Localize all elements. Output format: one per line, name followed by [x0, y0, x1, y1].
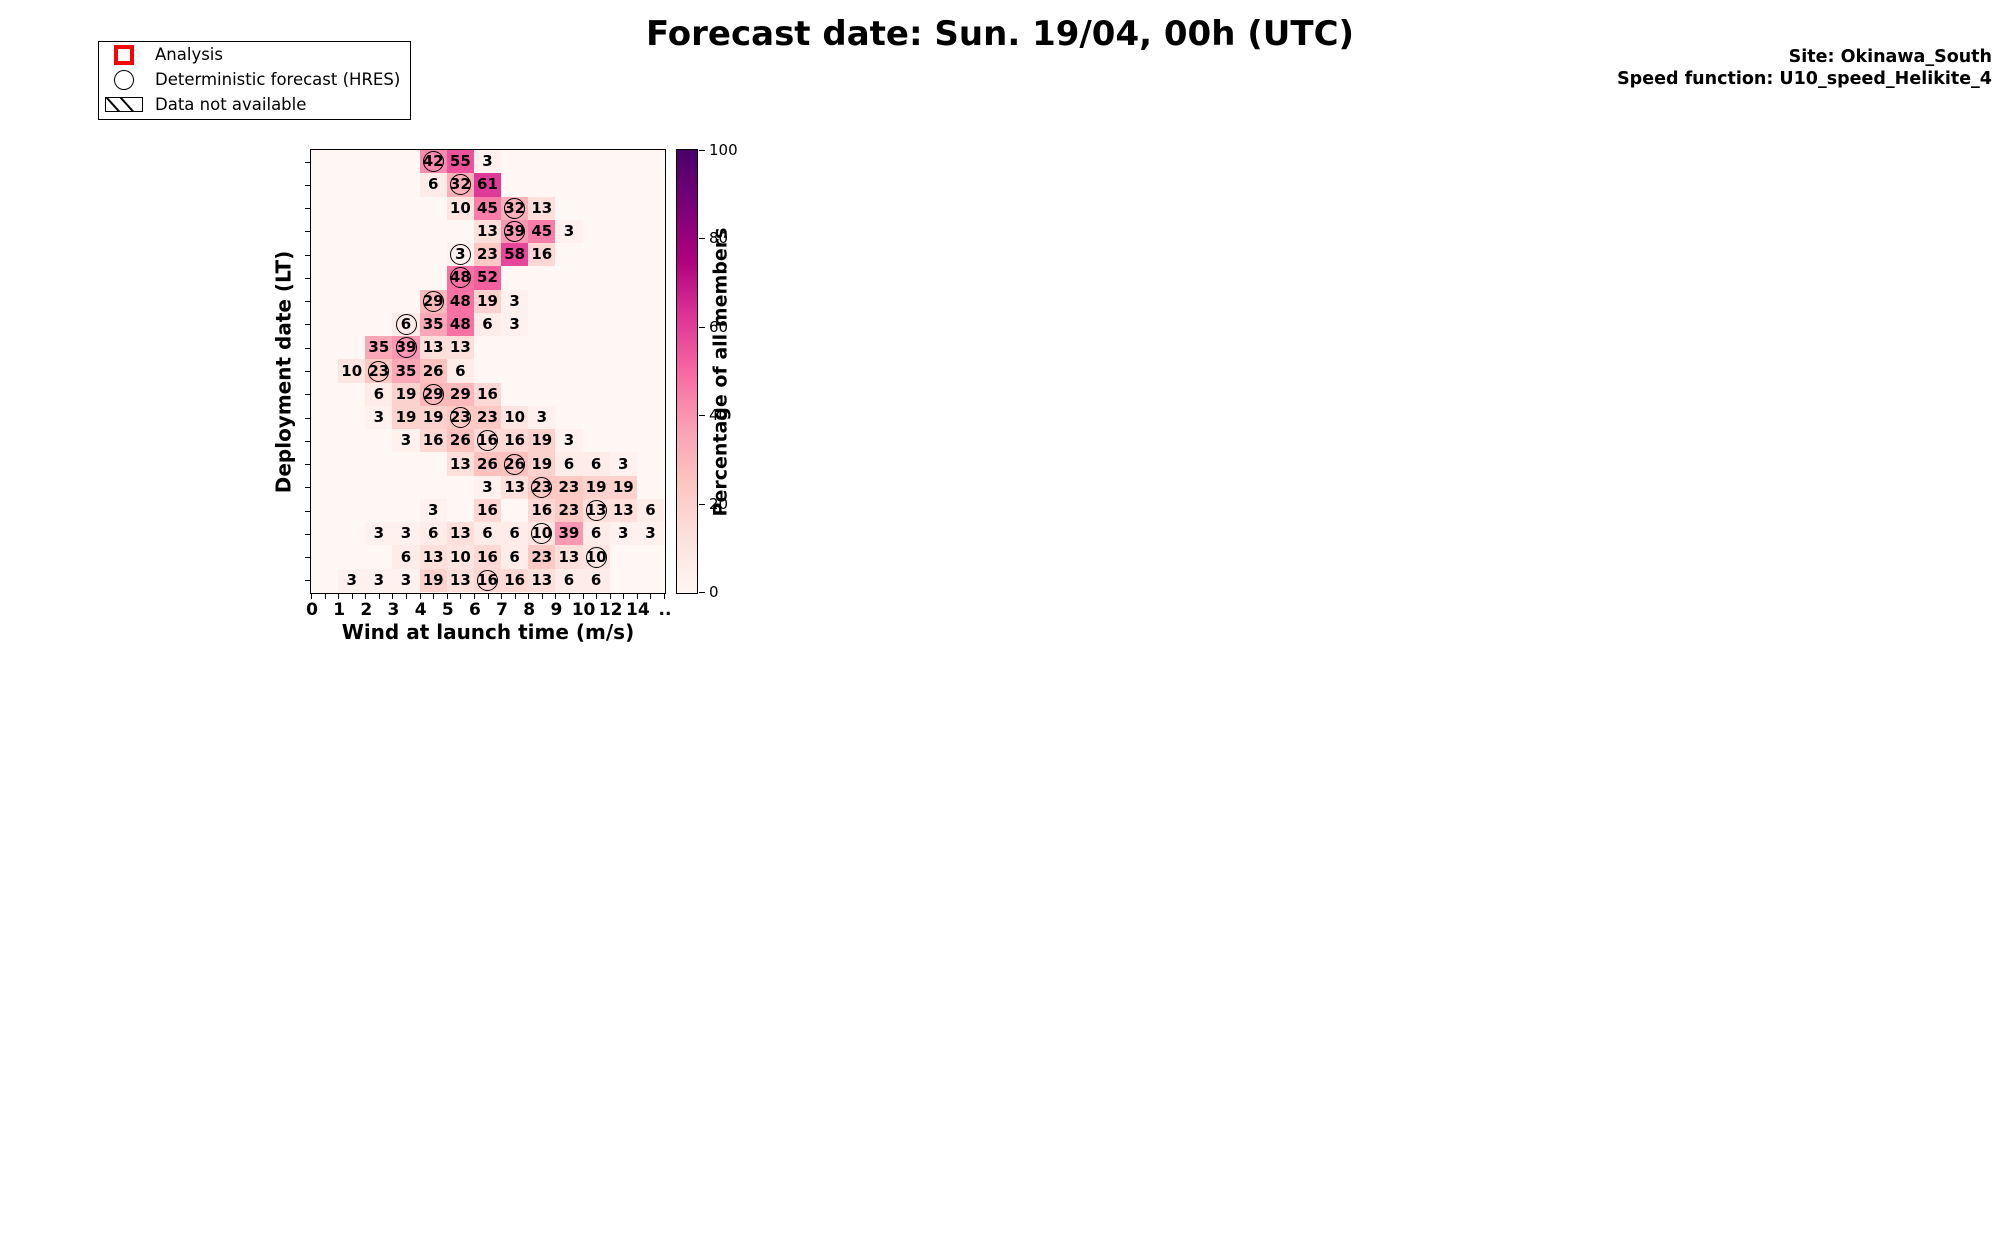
- heatmap-cell-value: 19: [610, 480, 637, 495]
- x-axis-tick: [365, 593, 366, 599]
- heatmap-cell-value: 6: [583, 526, 610, 541]
- heatmap-cell-value: 52: [474, 270, 501, 285]
- x-axis-tick-label: 8: [523, 600, 535, 620]
- heatmap-cell-value: 6: [583, 573, 610, 588]
- y-axis-tick: [305, 394, 311, 395]
- hres-marker-icon: [504, 198, 525, 219]
- heatmap-cell-value: 13: [501, 480, 528, 495]
- heatmap-cell-value: 13: [447, 526, 474, 541]
- heatmap-cell-value: 10: [447, 201, 474, 216]
- heatmap-cell-value: 26: [447, 433, 474, 448]
- heatmap-cell-value: 58: [501, 247, 528, 262]
- site-name-line: Site: Okinawa_South: [1617, 47, 1992, 69]
- hres-marker-icon: [586, 500, 607, 521]
- hatched-box-icon: [105, 94, 143, 115]
- heatmap-cell-value: 3: [528, 410, 555, 425]
- x-axis-tick-label: 9: [550, 600, 562, 620]
- x-axis-tick: [325, 593, 326, 599]
- heatmap-cell-value: 35: [365, 340, 392, 355]
- hres-marker-icon: [504, 221, 525, 242]
- x-axis-tick: [596, 593, 597, 599]
- heatmap-cell-value: 3: [365, 410, 392, 425]
- legend-item-no-data: Data not available: [99, 92, 410, 117]
- legend-item-hres: Deterministic forecast (HRES): [99, 67, 410, 92]
- y-axis-tick: [305, 557, 311, 558]
- x-axis-tick: [338, 593, 339, 599]
- x-axis-tick: [664, 593, 665, 599]
- x-axis-tick: [447, 593, 448, 599]
- legend-label-analysis: Analysis: [155, 45, 223, 64]
- y-axis-tick: [305, 301, 311, 302]
- heatmap-cell-value: 3: [392, 433, 419, 448]
- heatmap-cell-value: 6: [474, 317, 501, 332]
- hres-marker-icon: [396, 314, 417, 335]
- x-axis-tick: [623, 593, 624, 599]
- y-axis-tick: [305, 278, 311, 279]
- heatmap-cell-value: 13: [528, 573, 555, 588]
- x-axis-tick: [379, 593, 380, 599]
- heatmap-cell-value: 13: [610, 503, 637, 518]
- colorbar-tick: [699, 592, 705, 593]
- heatmap-cell-value: 23: [528, 550, 555, 565]
- y-axis-tick: [305, 348, 311, 349]
- heatmap-cell-value: 3: [365, 573, 392, 588]
- heatmap-cell-value: 19: [528, 457, 555, 472]
- x-axis-tick: [488, 593, 489, 599]
- heatmap-cell-value: 3: [555, 224, 582, 239]
- hres-marker-icon: [368, 361, 389, 382]
- hres-marker-icon: [423, 151, 444, 172]
- heatmap-cell-value: 61: [474, 177, 501, 192]
- x-axis-tick-label: 5: [442, 600, 454, 620]
- heatmap-cell-value: 26: [474, 457, 501, 472]
- heatmap-cell-value: 3: [555, 433, 582, 448]
- hres-marker-icon: [396, 337, 417, 358]
- colorbar-tick: [699, 150, 705, 151]
- heatmap-cell-value: 26: [420, 364, 447, 379]
- x-axis-tick: [501, 593, 502, 599]
- heatmap-cell-value: 10: [501, 410, 528, 425]
- x-axis-tick: [406, 593, 407, 599]
- heatmap-cell-value: 23: [474, 247, 501, 262]
- heatmap-cell-value: 19: [583, 480, 610, 495]
- heatmap-cell-value: 23: [474, 410, 501, 425]
- heatmap-cell-value: 19: [420, 410, 447, 425]
- hres-marker-icon: [450, 244, 471, 265]
- heatmap-cell-value: 6: [583, 457, 610, 472]
- heatmap-cell-value: 29: [447, 387, 474, 402]
- legend: Analysis Deterministic forecast (HRES) D…: [98, 41, 411, 120]
- x-axis-tick-label: 2: [360, 600, 372, 620]
- x-axis-tick: [352, 593, 353, 599]
- x-axis-tick: [528, 593, 529, 599]
- heatmap-cell-value: 10: [338, 364, 365, 379]
- x-axis-tick-label: 6: [469, 600, 481, 620]
- heatmap-cell-value: 6: [447, 364, 474, 379]
- heatmap-cell-value: 6: [392, 550, 419, 565]
- y-axis-tick: [305, 324, 311, 325]
- y-axis-tick: [305, 441, 311, 442]
- colorbar-tick: [699, 327, 705, 328]
- colorbar-tick: [699, 504, 705, 505]
- y-axis-tick: [305, 511, 311, 512]
- heatmap-cell-value: 13: [555, 550, 582, 565]
- red-square-icon: [105, 44, 143, 65]
- x-axis-tick: [637, 593, 638, 599]
- x-axis-tick-label: 4: [415, 600, 427, 620]
- x-axis-tick: [311, 593, 312, 599]
- x-axis-tick-label: 12: [599, 600, 623, 620]
- heatmap-cell-value: 19: [528, 433, 555, 448]
- x-axis-tick: [420, 593, 421, 599]
- y-axis-tick: [305, 418, 311, 419]
- heatmap-cell-value: 39: [555, 526, 582, 541]
- colorbar-tick: [699, 238, 705, 239]
- x-axis-tick: [650, 593, 651, 599]
- heatmap-axes: 4255363261104532131339453323581648522948…: [310, 149, 666, 594]
- heatmap-cell-value: 13: [447, 457, 474, 472]
- x-axis-tick: [583, 593, 584, 599]
- x-axis-tick: [460, 593, 461, 599]
- heatmap-cell-value: 3: [610, 457, 637, 472]
- x-axis-tick-label: ..: [659, 600, 672, 620]
- heatmap-cell-value: 23: [555, 503, 582, 518]
- y-axis-tick: [305, 162, 311, 163]
- y-axis-tick: [305, 208, 311, 209]
- y-axis-label: Deployment date (LT): [268, 149, 298, 594]
- y-axis-tick: [305, 487, 311, 488]
- heatmap-cell-value: 16: [501, 573, 528, 588]
- y-axis-tick: [305, 371, 311, 372]
- heatmap-cell-value: 3: [501, 317, 528, 332]
- x-axis-tick-label: 10: [572, 600, 596, 620]
- hres-marker-icon: [423, 384, 444, 405]
- heatmap-cell-value: 6: [420, 526, 447, 541]
- heatmap-cell-value: 16: [501, 433, 528, 448]
- x-axis-tick: [542, 593, 543, 599]
- heatmap-cell-value: 16: [474, 503, 501, 518]
- heatmap-cell-value: 13: [447, 340, 474, 355]
- hres-marker-icon: [450, 407, 471, 428]
- heatmap-cell-value: 6: [365, 387, 392, 402]
- heatmap-cell-value: 3: [420, 503, 447, 518]
- y-axis-tick: [305, 255, 311, 256]
- legend-label-hres: Deterministic forecast (HRES): [155, 70, 400, 89]
- heatmap-cell-value: 19: [420, 573, 447, 588]
- x-axis-tick: [392, 593, 393, 599]
- heatmap-cell-value: 3: [474, 154, 501, 169]
- heatmap-cell-value: 13: [420, 340, 447, 355]
- heatmap-cell-value: 19: [474, 294, 501, 309]
- x-axis-tick-label: 0: [306, 600, 318, 620]
- heatmap-cell-value: 35: [420, 317, 447, 332]
- x-axis-tick-label: 14: [626, 600, 650, 620]
- heatmap-cell-value: 16: [420, 433, 447, 448]
- hres-marker-icon: [531, 477, 552, 498]
- heatmap-cell-value: 10: [447, 550, 474, 565]
- heatmap-cell-value: 16: [474, 387, 501, 402]
- heatmap-cell-value: 16: [528, 247, 555, 262]
- heatmap-cell-value: 23: [555, 480, 582, 495]
- hres-marker-icon: [423, 291, 444, 312]
- heatmap-cell-value: 3: [392, 573, 419, 588]
- hres-marker-icon: [504, 454, 525, 475]
- hres-marker-icon: [477, 570, 498, 591]
- heatmap-cell-value: 13: [474, 224, 501, 239]
- colorbar-label: Percentage of all members: [706, 149, 734, 594]
- x-axis-tick: [610, 593, 611, 599]
- heatmap-cell-value: 48: [447, 317, 474, 332]
- heatmap-cell-value: 6: [637, 503, 664, 518]
- heatmap-cell-value: 6: [555, 573, 582, 588]
- heatmap-cell-value: 19: [392, 410, 419, 425]
- x-axis-tick: [433, 593, 434, 599]
- y-axis-tick: [305, 464, 311, 465]
- heatmap-cell-value: 3: [610, 526, 637, 541]
- hres-marker-icon: [586, 547, 607, 568]
- heatmap-cell-value: 3: [365, 526, 392, 541]
- heatmap-cell-value: 3: [392, 526, 419, 541]
- heatmap-cell-value: 16: [528, 503, 555, 518]
- colorbar-tick: [699, 415, 705, 416]
- x-axis-label: Wind at launch time (m/s): [310, 620, 666, 644]
- x-axis-tick-label: 1: [333, 600, 345, 620]
- heatmap-cell-value: 3: [637, 526, 664, 541]
- heatmap-cell-value: 13: [528, 201, 555, 216]
- heatmap-cell-value: 55: [447, 154, 474, 169]
- y-axis-tick: [305, 580, 311, 581]
- heatmap-cell-value: 19: [392, 387, 419, 402]
- heatmap-cell-value: 6: [474, 526, 501, 541]
- heatmap-cell-value: 6: [420, 177, 447, 192]
- heatmap-cell-value: 3: [338, 573, 365, 588]
- colorbar: 020406080100: [676, 149, 698, 594]
- heatmap-cell-value: 3: [501, 294, 528, 309]
- y-axis-tick: [305, 231, 311, 232]
- heatmap-cell-value: 45: [528, 224, 555, 239]
- heatmap-cell-value: 35: [392, 364, 419, 379]
- heatmap-cell-value: 6: [501, 526, 528, 541]
- heatmap-cell-value: 6: [555, 457, 582, 472]
- heatmap-cell-value: 48: [447, 294, 474, 309]
- heatmap-cell-value: 6: [501, 550, 528, 565]
- speed-function-line: Speed function: U10_speed_Helikite_4: [1617, 69, 1992, 91]
- heatmap-cell-value: 16: [474, 550, 501, 565]
- legend-item-analysis: Analysis: [99, 42, 410, 67]
- y-axis-tick: [305, 534, 311, 535]
- site-info: Site: Okinawa_South Speed function: U10_…: [1617, 47, 1992, 90]
- heatmap-cell-value: 13: [447, 573, 474, 588]
- legend-label-no-data: Data not available: [155, 95, 306, 114]
- heatmap-cell-value: 45: [474, 201, 501, 216]
- x-axis-tick: [474, 593, 475, 599]
- y-axis-tick: [305, 185, 311, 186]
- x-axis-tick: [555, 593, 556, 599]
- heatmap-cells: 4255363261104532131339453323581648522948…: [311, 150, 665, 593]
- heatmap-cell-value: 13: [420, 550, 447, 565]
- x-axis-tick-label: 3: [388, 600, 400, 620]
- circle-outline-icon: [105, 69, 143, 90]
- x-axis-tick: [569, 593, 570, 599]
- heatmap-cell-value: 3: [474, 480, 501, 495]
- x-axis-tick-label: 7: [496, 600, 508, 620]
- x-axis-tick: [515, 593, 516, 599]
